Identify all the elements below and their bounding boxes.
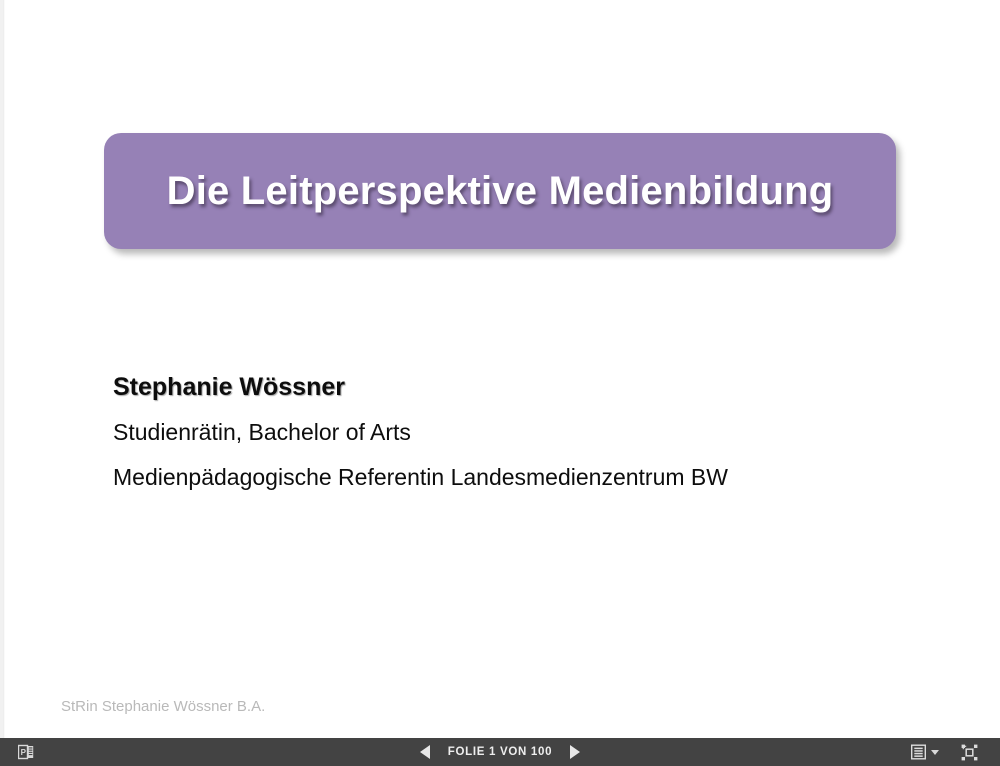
presentation-toolbar: P FOLIE 1 VON 100 — [0, 738, 1000, 766]
previous-arrow-icon — [420, 745, 430, 759]
chevron-down-icon — [931, 750, 939, 755]
slide-counter-label: FOLIE 1 VON 100 — [448, 746, 552, 758]
next-slide-button[interactable] — [570, 745, 580, 759]
slide-canvas[interactable]: Die Leitperspektive Medienbildung Stepha… — [0, 0, 1000, 738]
toolbar-left-group: P — [0, 744, 200, 760]
slide-title-banner: Die Leitperspektive Medienbildung — [104, 133, 896, 249]
presenter-name: Stephanie Wössner — [113, 370, 913, 404]
slide-list-icon — [911, 744, 926, 760]
svg-text:P: P — [21, 748, 27, 757]
slide-list-menu-button[interactable] — [911, 744, 939, 760]
fullscreen-button[interactable] — [961, 744, 978, 761]
powerpoint-icon[interactable]: P — [18, 744, 34, 760]
next-arrow-icon — [570, 745, 580, 759]
previous-slide-button[interactable] — [420, 745, 430, 759]
fullscreen-icon — [961, 744, 978, 761]
slide-title: Die Leitperspektive Medienbildung — [167, 169, 834, 214]
slide-body-block: Stephanie Wössner Studienrätin, Bachelor… — [113, 370, 913, 493]
presentation-viewer: Die Leitperspektive Medienbildung Stepha… — [0, 0, 1000, 766]
slide-footer-text: StRin Stephanie Wössner B.A. — [61, 698, 265, 715]
presenter-affiliation: Medienpädagogische Referentin Landesmedi… — [113, 461, 913, 493]
slide-navigation: FOLIE 1 VON 100 — [200, 745, 800, 759]
presenter-role: Studienrätin, Bachelor of Arts — [113, 416, 913, 448]
toolbar-right-group — [800, 744, 1000, 761]
